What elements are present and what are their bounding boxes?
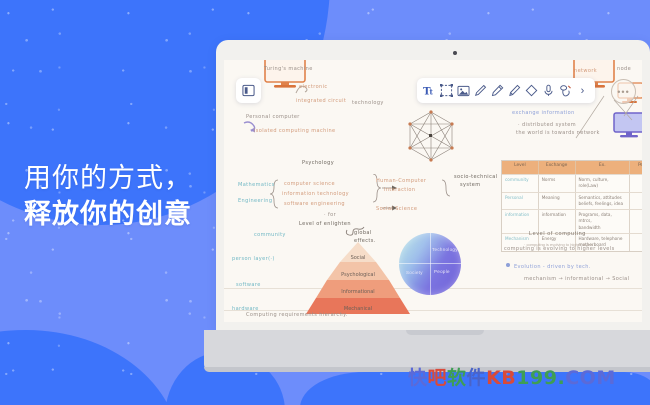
cell-level: community [502,175,539,192]
watermark-char: 快 [408,363,428,390]
sphere-label-people: People [434,269,450,274]
pen-icon [474,84,487,97]
laptop-base-notch [406,330,484,335]
microphone-button[interactable] [540,80,557,101]
webcam-icon [453,51,457,55]
network-graph-illustration [402,108,460,166]
handwritten-note: Evolution - driven by tech. [514,264,591,270]
watermark-char: 9 [530,367,544,389]
handwritten-note: community [254,232,286,238]
handwritten-note: isolated computing machine [254,128,336,134]
table-row[interactable]: information information Programs, data, … [502,209,642,233]
handwritten-note: Computing requirements hierarchy. [246,312,348,318]
svg-text:t: t [430,87,434,96]
table-header-pe: Pe [630,161,642,174]
marker-tool-button[interactable] [489,80,506,101]
eraser-tool-button[interactable] [523,80,540,101]
cell-ex: Programs, data, mtrcs, bandwidth [576,210,631,233]
text-tool-button[interactable]: T t [421,80,438,101]
sphere-divider-vertical [430,233,431,295]
laptop-screen: Social Psychological Informational Mecha… [224,60,642,322]
handwritten-note: Turing's machine [264,66,313,72]
svg-text:Social: Social [351,255,366,261]
table-header-ex: Ex. [576,161,631,174]
handwritten-note: Personal computer [246,114,300,120]
watermark-char: C [565,367,579,389]
handwritten-note: technology [352,100,384,106]
watermark-char: K [486,367,501,389]
handwritten-note: network [574,68,597,74]
highlighter-tool-button[interactable] [506,80,523,101]
handwritten-note: Human-Computer [376,178,426,184]
pyramid-chart: Social Psychological Informational Mecha… [306,240,411,316]
watermark-char: . [557,367,565,389]
cell-pe [630,175,642,192]
table-row[interactable]: Personal Meaning Semantics, attitudes be… [502,192,642,210]
handwritten-note: Mathematics [238,182,275,188]
watermark-char: 软 [447,363,467,390]
handwritten-note: computer science [284,181,335,187]
pen-tool-button[interactable] [472,80,489,101]
insert-image-button[interactable] [455,80,472,101]
svg-text:Psychological: Psychological [341,272,375,278]
handwritten-note: effects. [354,238,376,244]
lasso-hand-icon [559,84,572,97]
whiteboard-canvas[interactable]: Social Psychological Informational Mecha… [224,60,642,322]
cell-exchange: Norms [539,175,576,192]
handwritten-note: system [460,182,480,188]
cell-pe [630,193,642,210]
watermark: 快吧软件 KB199.COM [408,363,616,390]
handwritten-note: Level of enlighten [299,221,351,227]
select-frame-button[interactable] [438,80,455,101]
sphere-label-society: Society [406,270,423,275]
handwritten-note: socio-technical [454,174,497,180]
headline-line-2: 释放你的创意 [24,196,192,232]
handwritten-note: Social Science [376,206,417,212]
drawing-toolbar[interactable]: T t [417,78,595,103]
svg-text:Informational: Informational [341,289,374,295]
handwritten-note: Engineering [238,198,272,204]
highlighter-icon [508,84,521,97]
cell-pe [630,234,642,251]
watermark-char: O [580,367,597,389]
cell-level: Personal [502,193,539,210]
watermark-char: 件 [467,363,487,390]
handwritten-note: the world is towards network [516,130,600,136]
sidebar-panel-icon [242,84,255,97]
data-table[interactable]: Level Exchange Ex. Pe community Norms No… [501,160,642,252]
svg-text:Mechanical: Mechanical [344,306,372,312]
watermark-char: 1 [516,367,530,389]
page-root: 用你的方式， 释放你的创意 [0,0,650,405]
cell-ex: Semantics, attitudes beliefs, feelings, … [576,193,631,210]
handwritten-note: exchange information [512,110,575,116]
marker-icon [491,84,504,97]
laptop-mockup: Social Psychological Informational Mecha… [216,40,650,375]
headline: 用你的方式， 释放你的创意 [24,160,192,233]
cell-level: information [502,210,539,233]
table-row[interactable]: community Norms Norm, culture, role(Law) [502,174,642,192]
bullet-dot [506,263,510,267]
watermark-char: B [501,367,516,389]
cell-exchange: Meaning [539,193,576,210]
image-icon [457,85,470,97]
table-header-exchange: Exchange [539,161,576,174]
cell-pe [630,210,642,233]
table-header-row: Level Exchange Ex. Pe [502,161,642,174]
watermark-char: M [596,367,615,389]
microphone-icon [542,84,555,97]
eraser-icon [525,84,538,97]
handwritten-note: information technology [282,191,349,197]
handwritten-note: person layer(·) [232,256,275,262]
select-frame-icon [440,84,453,97]
handwritten-note: integrated circuit [296,98,346,104]
sphere-label-technology: Technology [432,247,458,252]
table-header-level: Level [502,161,539,174]
more-options-button[interactable]: ••• [611,79,636,104]
handwritten-note: computing is evolving to higher levels [504,246,615,252]
handwritten-note: · distributed system [518,122,576,128]
handwritten-note: global [354,230,372,236]
handwritten-note: node [617,66,631,72]
handwritten-note: Psychology [302,160,334,166]
watermark-char: 9 [544,367,558,389]
cell-exchange: information [539,210,576,233]
watermark-char: 吧 [428,363,448,390]
handwritten-note: software [236,282,261,288]
handwritten-note: mechanism → informational → Social [524,276,629,282]
handwritten-note: · for [324,212,336,218]
text-tool-icon: T t [423,85,436,97]
cell-ex: Norm, culture, role(Law) [576,175,631,192]
sidebar-toggle-button[interactable] [236,78,261,103]
lasso-hand-button[interactable] [557,80,574,101]
handwritten-note: electronic [299,84,328,90]
toolbar-expand-button[interactable]: › [574,80,591,101]
handwritten-note: software engineering [284,201,345,207]
handwritten-note: interaction [384,187,415,193]
table-caption: Level of computing [529,231,586,237]
headline-line-1: 用你的方式， [24,160,192,196]
